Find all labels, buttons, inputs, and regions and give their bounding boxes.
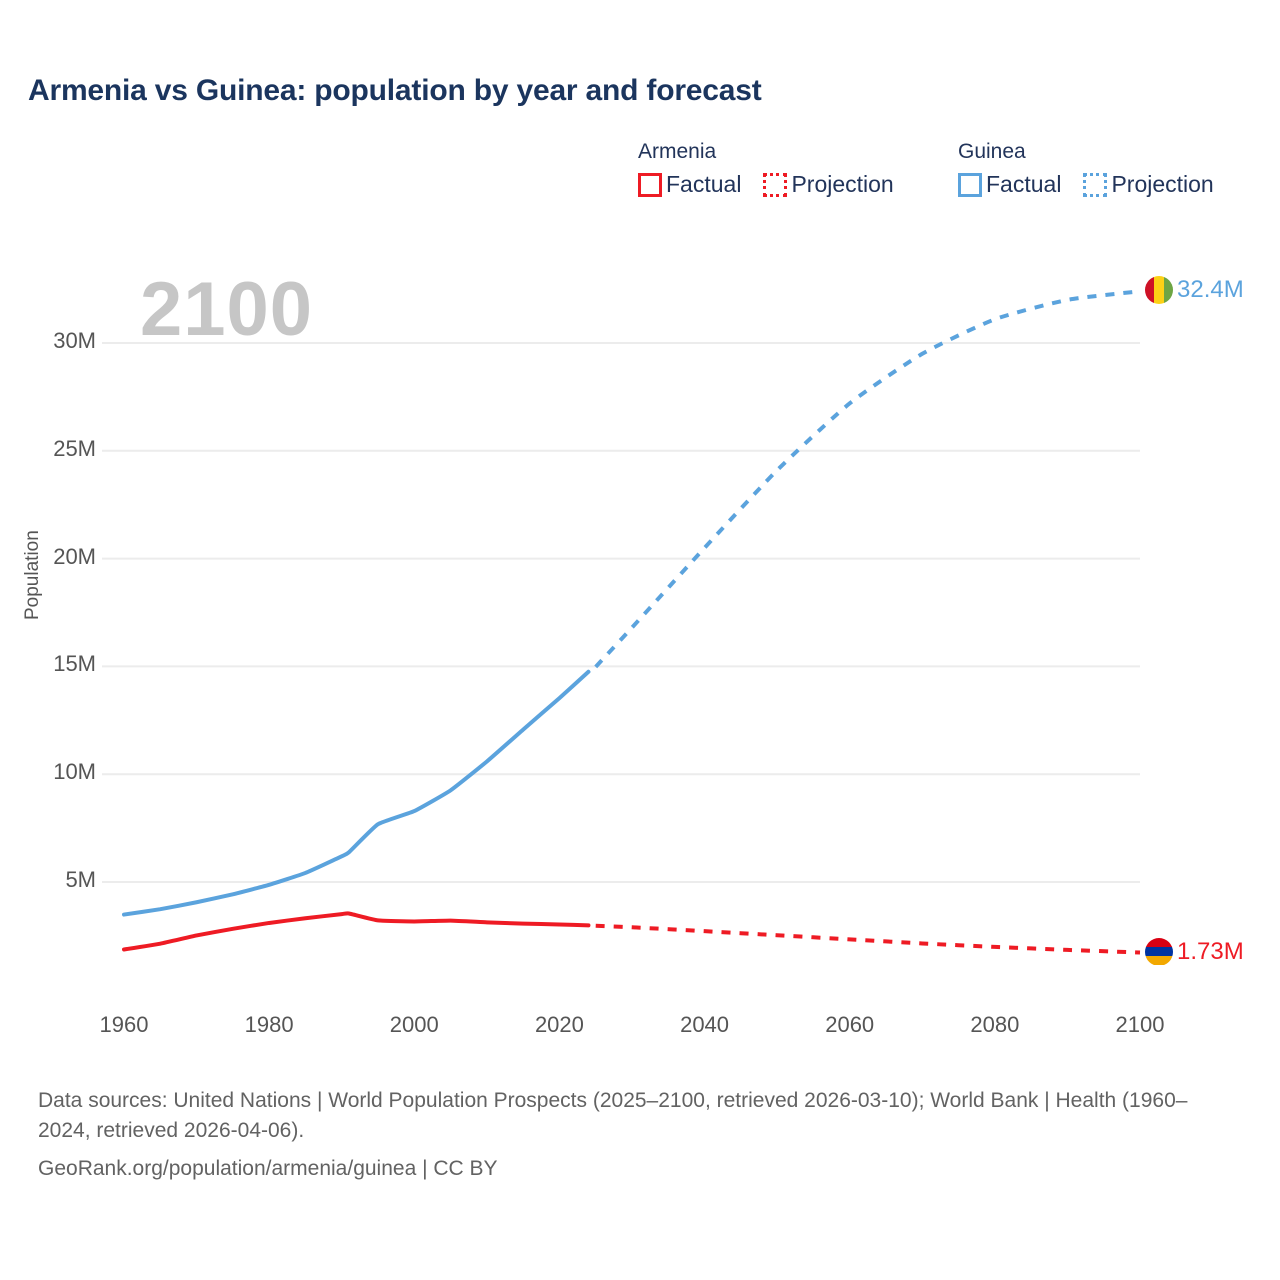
- legend-swatch-solid-red-icon: [638, 173, 662, 197]
- legend-group-armenia: Armenia Factual Projection: [638, 140, 958, 198]
- x-axis-tick-1960: 1960: [64, 1012, 184, 1038]
- x-axis-tick-2100: 2100: [1080, 1012, 1200, 1038]
- legend-group-title-armenia: Armenia: [638, 140, 958, 164]
- x-axis-tick-2060: 2060: [790, 1012, 910, 1038]
- legend-group-title-guinea: Guinea: [958, 140, 1214, 164]
- legend-item-guinea-projection[interactable]: Projection: [1083, 171, 1213, 198]
- x-axis-tick-2000: 2000: [354, 1012, 474, 1038]
- legend-label-armenia-factual: Factual: [666, 171, 741, 198]
- legend-swatch-dotted-blue-icon: [1083, 173, 1107, 197]
- legend-label-guinea-projection: Projection: [1111, 171, 1213, 198]
- y-axis-tick-10M: 10M: [0, 759, 96, 785]
- legend-item-armenia-projection[interactable]: Projection: [763, 171, 893, 198]
- armenia-end-label-group: 1.73M: [1145, 938, 1244, 966]
- x-axis-tick-2020: 2020: [499, 1012, 619, 1038]
- footer-sources: Data sources: United Nations | World Pop…: [38, 1086, 1238, 1183]
- x-axis-tick-2040: 2040: [645, 1012, 765, 1038]
- footer-line-1: Data sources: United Nations | World Pop…: [38, 1086, 1238, 1146]
- year-watermark: 2100: [140, 272, 313, 348]
- legend-label-armenia-projection: Projection: [791, 171, 893, 198]
- legend-swatch-dotted-red-icon: [763, 173, 787, 197]
- y-axis-tick-30M: 30M: [0, 328, 96, 354]
- x-axis-tick-2080: 2080: [935, 1012, 1055, 1038]
- armenia-end-value: 1.73M: [1177, 938, 1244, 966]
- page-title: Armenia vs Guinea: population by year an…: [28, 74, 762, 108]
- y-axis-tick-25M: 25M: [0, 436, 96, 462]
- guinea-end-label-group: 32.4M: [1145, 276, 1244, 304]
- legend-group-guinea: Guinea Factual Projection: [958, 140, 1214, 198]
- x-axis-tick-1980: 1980: [209, 1012, 329, 1038]
- y-axis-tick-20M: 20M: [0, 544, 96, 570]
- legend-item-guinea-factual[interactable]: Factual: [958, 171, 1061, 198]
- y-axis-tick-5M: 5M: [0, 867, 96, 893]
- armenia-flag-icon: [1145, 938, 1173, 966]
- chart-legend: Armenia Factual Projection Guinea Factua…: [638, 140, 1214, 198]
- guinea-end-value: 32.4M: [1177, 276, 1244, 304]
- y-axis-tick-15M: 15M: [0, 651, 96, 677]
- footer-line-2: GeoRank.org/population/armenia/guinea | …: [38, 1154, 1238, 1184]
- legend-label-guinea-factual: Factual: [986, 171, 1061, 198]
- legend-item-armenia-factual[interactable]: Factual: [638, 171, 741, 198]
- guinea-flag-icon: [1145, 276, 1173, 304]
- legend-swatch-solid-blue-icon: [958, 173, 982, 197]
